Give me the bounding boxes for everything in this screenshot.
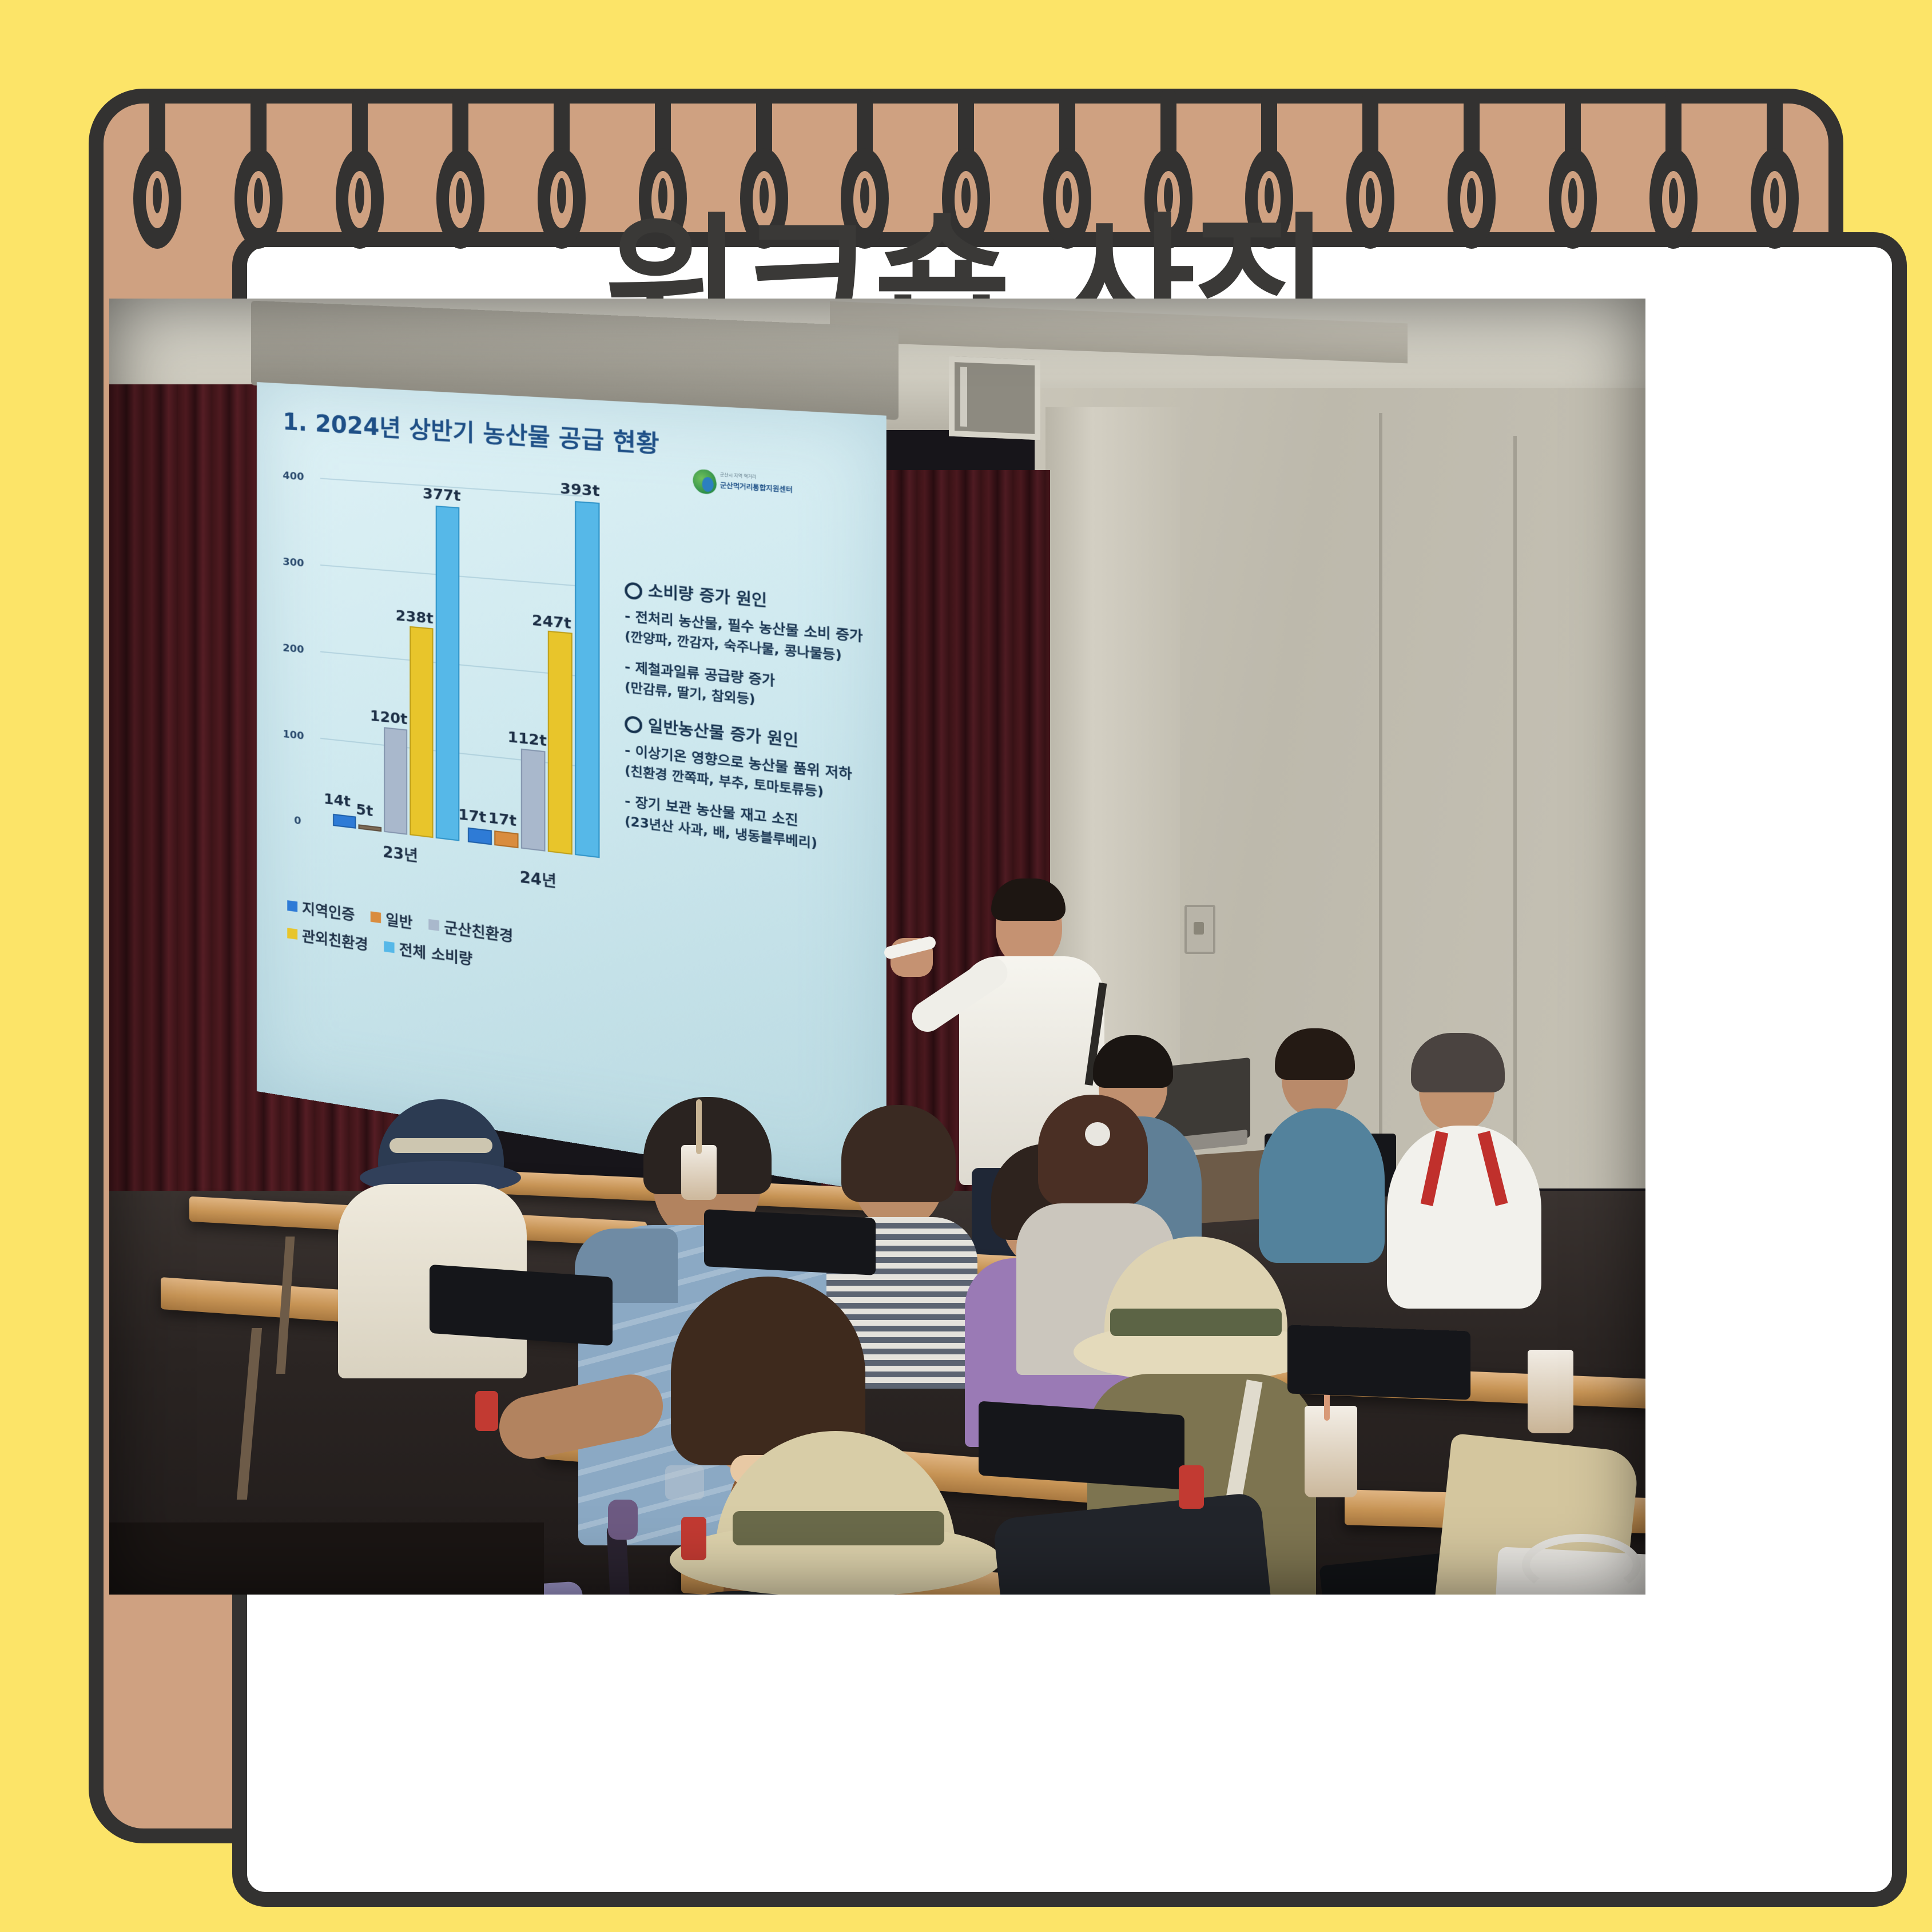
legend-swatch-icon xyxy=(287,928,297,940)
bar-label: 17t xyxy=(488,809,516,830)
umbrella-handle xyxy=(608,1500,638,1540)
logo-line-1: 군산시 지역 먹거리 xyxy=(720,472,756,480)
legend-swatch-icon xyxy=(371,911,381,923)
bar-label: 14t xyxy=(324,790,351,810)
straw xyxy=(696,1099,702,1154)
hat-on-desk-band xyxy=(733,1511,944,1545)
bar-23-지역인증 xyxy=(333,814,356,829)
workshop-photo: 1. 2024년 상반기 농산물 공급 현황 군산시 지역 먹거리 군산먹거리통… xyxy=(109,299,1645,1595)
y-tick-300: 300 xyxy=(283,556,304,570)
bar-23-관외친환경 xyxy=(410,626,433,838)
photo-scene: 1. 2024년 상반기 농산물 공급 현황 군산시 지역 먹거리 군산먹거리통… xyxy=(109,299,1645,1595)
bar-label: 5t xyxy=(356,801,373,820)
bar-24-전체소비량 xyxy=(575,501,599,858)
hair-clip xyxy=(1085,1122,1110,1146)
hat-band xyxy=(389,1138,492,1153)
legend-label: 전체 소비량 xyxy=(399,938,472,969)
legend-item: 일반 xyxy=(371,906,413,933)
bar-label: 112t xyxy=(507,728,546,749)
bar-label: 17t xyxy=(458,806,486,826)
bag-handle xyxy=(1522,1534,1641,1595)
plot-area: 14t 5t 120t 238t 377t 17t 17t xyxy=(320,478,582,856)
bar-label: 120t xyxy=(370,707,408,728)
chair-marker xyxy=(1179,1465,1204,1509)
bar-label: 238t xyxy=(396,607,434,627)
legend-label: 일반 xyxy=(385,908,412,933)
y-tick-200: 200 xyxy=(283,642,304,656)
bar-24-관외친환경 xyxy=(548,631,573,855)
x-category-23: 23년 xyxy=(383,840,418,866)
ring-bullet-icon xyxy=(625,715,642,734)
foreground-shadow xyxy=(109,1522,544,1595)
drink-cup xyxy=(1528,1350,1573,1433)
logo-line-2: 군산먹거리통합지원센터 xyxy=(720,480,793,495)
chair-marker xyxy=(681,1517,706,1560)
y-tick-400: 400 xyxy=(283,470,304,483)
y-tick-100: 100 xyxy=(283,728,304,742)
y-tick-0: 0 xyxy=(294,814,301,828)
bar-24-군산친환경 xyxy=(521,749,546,852)
chair-back xyxy=(704,1209,876,1275)
legend-item: 군산친환경 xyxy=(429,914,514,947)
chair-back xyxy=(979,1401,1184,1489)
presenter-hair xyxy=(991,878,1066,921)
legend-swatch-icon xyxy=(429,919,440,931)
legend-swatch-icon xyxy=(384,941,394,953)
slide-title: 1. 2024년 상반기 농산물 공급 현황 xyxy=(283,403,659,460)
eyeglasses-icon xyxy=(665,1465,704,1500)
bar-label: 393t xyxy=(560,480,599,500)
hair xyxy=(1038,1095,1148,1207)
ceiling-vent-icon xyxy=(949,356,1040,440)
ring-bullet-icon xyxy=(625,582,642,600)
bar-23-일반 xyxy=(358,824,381,832)
chair-marker xyxy=(475,1391,498,1431)
bar-23-전체소비량 xyxy=(436,506,460,841)
bar-23-군산친환경 xyxy=(384,727,407,834)
slide-notes: 소비량 증가 원인 - 전처리 농산물, 필수 농산물 소비 증가 (깐양파, … xyxy=(625,577,878,875)
bar-24-지역인증 xyxy=(468,828,492,845)
drop-icon xyxy=(702,476,713,492)
supply-bar-chart: 400 300 200 100 0 14t 5t xyxy=(279,475,587,917)
bar-label: 247t xyxy=(532,611,571,632)
hair xyxy=(841,1105,956,1202)
x-category-24: 24년 xyxy=(520,865,556,892)
hat-band xyxy=(1110,1309,1282,1336)
legend-item: 전체 소비량 xyxy=(384,936,472,969)
legend-swatch-icon xyxy=(287,900,297,912)
wall-switch xyxy=(1184,905,1215,954)
chair-back xyxy=(430,1265,613,1346)
bar-label: 377t xyxy=(423,485,461,504)
legend-label: 관외친환경 xyxy=(302,925,368,955)
legend-label: 군산친환경 xyxy=(444,916,513,946)
wall-seam xyxy=(1513,436,1517,1168)
legend-item: 관외친환경 xyxy=(287,923,368,955)
projection-screen: 1. 2024년 상반기 농산물 공급 현황 군산시 지역 먹거리 군산먹거리통… xyxy=(257,336,887,1194)
legend-label: 지역인증 xyxy=(302,897,355,925)
organization-logo: 군산시 지역 먹거리 군산먹거리통합지원센터 xyxy=(693,468,763,502)
slide-surface: 1. 2024년 상반기 농산물 공급 현황 군산시 지역 먹거리 군산먹거리통… xyxy=(257,382,887,1194)
legend-item: 지역인증 xyxy=(287,895,355,925)
chair-back xyxy=(1287,1325,1470,1400)
drink-cup xyxy=(1305,1406,1357,1497)
wall-seam xyxy=(1379,413,1382,1179)
bar-24-일반 xyxy=(494,830,518,848)
